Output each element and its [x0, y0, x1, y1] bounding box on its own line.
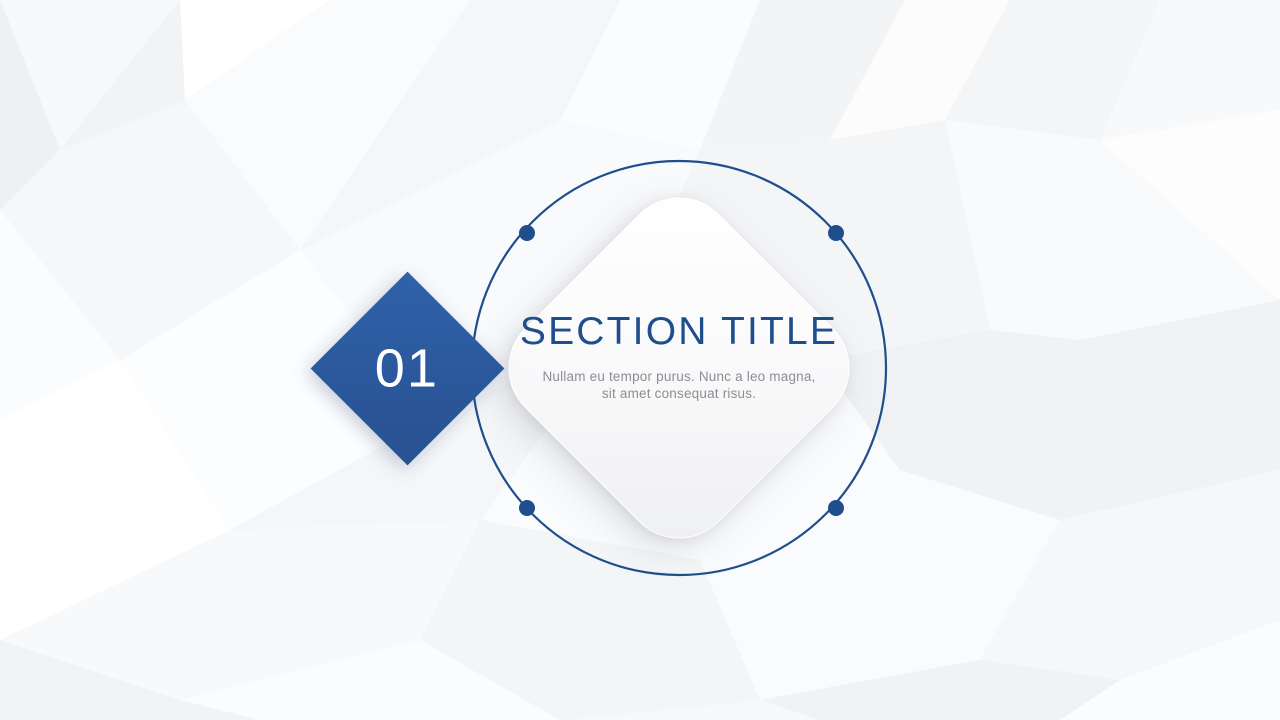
- section-subtitle-line-2: sit amet consequat risus.: [602, 386, 756, 401]
- section-subtitle: Nullam eu tempor purus. Nunc a leo magna…: [479, 368, 879, 404]
- center-composition: 01 SECTION TITLE Nullam eu tempor purus.…: [0, 0, 1280, 720]
- slide-canvas: 01 SECTION TITLE Nullam eu tempor purus.…: [0, 0, 1280, 720]
- section-text-block: SECTION TITLE Nullam eu tempor purus. Nu…: [479, 310, 879, 403]
- section-title: SECTION TITLE: [479, 310, 879, 354]
- node-bottom-left-icon: [519, 500, 535, 516]
- node-top-left-icon: [519, 225, 535, 241]
- section-number-label: 01: [375, 341, 439, 395]
- node-top-right-icon: [828, 225, 844, 241]
- section-subtitle-line-1: Nullam eu tempor purus. Nunc a leo magna…: [542, 369, 815, 384]
- node-bottom-right-icon: [828, 500, 844, 516]
